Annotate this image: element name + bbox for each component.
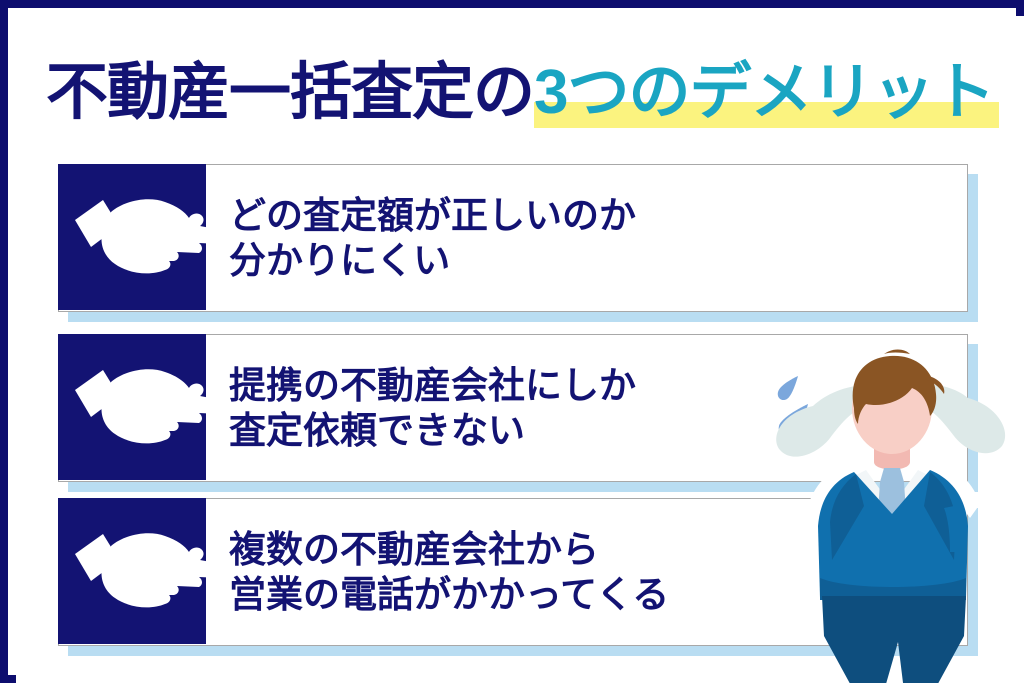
page-title-accent-wrap: 3つのデメリット — [534, 62, 994, 124]
demerit-card-1[interactable]: どの査定額が正しいのか 分かりにくい — [58, 164, 968, 312]
pointing-hand-icon — [73, 360, 253, 456]
demerit-card-2-line2: 査定依頼できない — [229, 408, 636, 453]
infographic-canvas: 不動産一括査定の 3つのデメリット どの査定額が正しいのか 分かりにくい — [16, 16, 1024, 683]
infographic-page: 不動産一括査定の 3つのデメリット どの査定額が正しいのか 分かりにくい — [0, 0, 1024, 683]
page-title-main: 不動産一括査定の — [46, 62, 534, 124]
demerit-card-1-text: どの査定額が正しいのか 分かりにくい — [229, 193, 636, 283]
demerit-card-3-text: 複数の不動産会社から 営業の電話がかかってくる — [229, 527, 669, 617]
pointing-hand-icon — [73, 190, 253, 286]
page-title: 不動産一括査定の 3つのデメリット — [46, 44, 995, 124]
demerit-card-2-text: 提携の不動産会社にしか 査定依頼できない — [229, 363, 636, 453]
demerit-card-3-line1: 複数の不動産会社から — [229, 527, 669, 572]
demerit-card-3-line2: 営業の電話がかかってくる — [229, 572, 669, 617]
pointing-hand-icon — [73, 524, 253, 620]
demerit-card-3[interactable]: 複数の不動産会社から 営業の電話がかかってくる — [58, 498, 968, 646]
page-title-accent: 3つのデメリット — [534, 58, 994, 127]
sweat-drops-icon — [768, 368, 848, 448]
demerit-card-1-line2: 分かりにくい — [229, 238, 636, 283]
demerit-card-1-line1: どの査定額が正しいのか — [229, 193, 636, 238]
demerit-card-2-line1: 提携の不動産会社にしか — [229, 363, 636, 408]
